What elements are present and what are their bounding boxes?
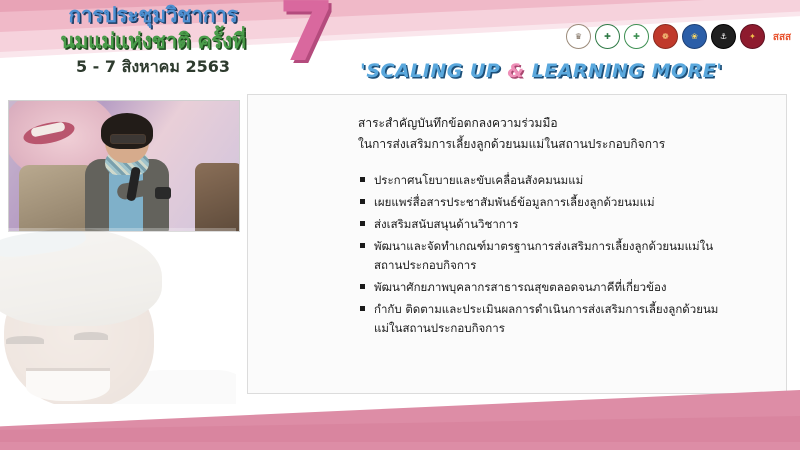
list-item: พัฒนาและจัดทำเกณฑ์มาตรฐานการส่งเสริมการเ… bbox=[360, 237, 720, 275]
bullet-marker-icon bbox=[360, 284, 365, 289]
bullet-marker-icon bbox=[360, 199, 365, 204]
watermark-child-eye-right bbox=[74, 332, 108, 340]
logo-thai-royal-seal-icon: ♛ bbox=[566, 24, 591, 49]
bullet-marker-icon bbox=[360, 221, 365, 226]
video-chair-left bbox=[19, 165, 95, 231]
tagline-part2: LEARNING MORE' bbox=[524, 60, 722, 82]
slide-content-panel: สาระสำคัญบันทึกข้อตกลงความร่วมมือ ในการส… bbox=[247, 94, 787, 394]
video-chair-right bbox=[195, 163, 240, 232]
list-item: ประกาศนโยบายและขับเคลื่อนสังคมนมแม่ bbox=[360, 171, 720, 190]
speaker-video-thumbnail[interactable] bbox=[8, 100, 240, 232]
list-item-label: ประกาศนโยบายและขับเคลื่อนสังคมนมแม่ bbox=[374, 173, 583, 187]
list-item-label: พัฒนาศักยภาพบุคลากรสาธารณสุขตลอดจนภาคีที… bbox=[374, 280, 667, 294]
list-item-label: กำกับ ติดตามและประเมินผลการดำเนินการส่งเ… bbox=[374, 302, 718, 335]
watermark-child-eye-left bbox=[6, 336, 44, 344]
content-heading-line1: สาระสำคัญบันทึกข้อตกลงความร่วมมือ bbox=[358, 113, 665, 134]
list-item: พัฒนาศักยภาพบุคลากรสาธารณสุขตลอดจนภาคีที… bbox=[360, 278, 720, 297]
list-item: กำกับ ติดตามและประเมินผลการดำเนินการส่งเ… bbox=[360, 300, 720, 338]
bullet-marker-icon bbox=[360, 177, 365, 182]
speaker-glasses-icon bbox=[110, 134, 146, 144]
tagline-ampersand: & bbox=[507, 60, 524, 82]
logo-red-emblem-icon: ❁ bbox=[653, 24, 678, 49]
logo-black-emblem-icon: ⚓ bbox=[711, 24, 736, 49]
bullet-marker-icon bbox=[360, 243, 365, 248]
content-heading-line2: ในการส่งเสริมการเลี้ยงลูกด้วยนมแม่ในสถาน… bbox=[358, 134, 665, 155]
watermark-child-smile bbox=[26, 368, 110, 401]
list-item-label: ส่งเสริมสนับสนุนด้านวิชาการ bbox=[374, 217, 518, 231]
list-item-label: พัฒนาและจัดทำเกณฑ์มาตรฐานการส่งเสริมการเ… bbox=[374, 239, 713, 272]
list-item: ส่งเสริมสนับสนุนด้านวิชาการ bbox=[360, 215, 720, 234]
conference-date: 5 - 7 สิงหาคม 2563 bbox=[18, 56, 288, 78]
presentation-slide: การประชุมวิชาการ นมแม่แห่งชาติ ครั้งที่ … bbox=[0, 0, 800, 450]
slide-header-banner: การประชุมวิชาการ นมแม่แห่งชาติ ครั้งที่ … bbox=[0, 0, 800, 92]
content-bullet-list: ประกาศนโยบายและขับเคลื่อนสังคมนมแม่ เผยแ… bbox=[360, 171, 720, 341]
conference-tagline: 'SCALING UP & LEARNING MORE' bbox=[360, 60, 723, 82]
list-item: เผยแพร่สื่อสารประชาสัมพันธ์ข้อมูลการเลี้… bbox=[360, 193, 720, 212]
slide-footer-edge bbox=[0, 442, 800, 450]
content-heading: สาระสำคัญบันทึกข้อตกลงความร่วมมือ ในการส… bbox=[358, 113, 665, 155]
conference-title-line1: การประชุมวิชาการ bbox=[18, 2, 288, 28]
presentation-clicker-icon bbox=[155, 187, 171, 199]
tagline-part1: 'SCALING UP bbox=[360, 60, 507, 82]
child-photo-watermark bbox=[0, 228, 236, 404]
sponsor-logo-row: ♛ ✚ ✚ ❁ ❀ ⚓ ✦ สสส bbox=[566, 24, 795, 49]
logo-health-department-icon: ✚ bbox=[624, 24, 649, 49]
bullet-marker-icon bbox=[360, 306, 365, 311]
list-item-label: เผยแพร่สื่อสารประชาสัมพันธ์ข้อมูลการเลี้… bbox=[374, 195, 655, 209]
logo-blue-emblem-icon: ❀ bbox=[682, 24, 707, 49]
logo-sss-thaihealth-icon: สสส bbox=[769, 26, 795, 49]
conference-title-block: การประชุมวิชาการ นมแม่แห่งชาติ ครั้งที่ … bbox=[18, 2, 288, 78]
logo-maroon-emblem-icon: ✦ bbox=[740, 24, 765, 49]
conference-title-line2: นมแม่แห่งชาติ ครั้งที่ bbox=[18, 28, 288, 55]
logo-ministry-public-health-icon: ✚ bbox=[595, 24, 620, 49]
conference-edition-number: 7 bbox=[278, 0, 335, 74]
